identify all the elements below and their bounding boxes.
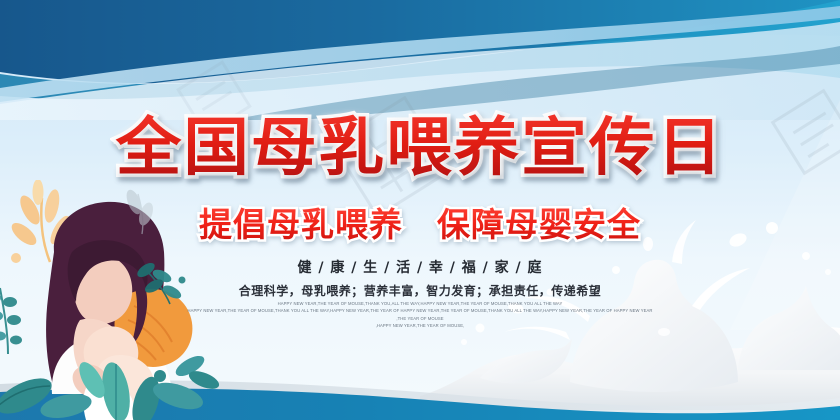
leaf-foreground-group <box>0 352 221 420</box>
mother-hand <box>73 365 108 398</box>
poster-motto: 合理科学，母乳喂养；营养丰富，智力发育；承担责任，传递希望 <box>0 282 840 299</box>
english-filler-line-1: HAPPY NEW YEAR,THE YEAR OF MOUSE,THANK Y… <box>170 300 670 307</box>
mother-hair-side <box>130 266 147 348</box>
bottom-wave-decoration <box>0 340 840 420</box>
top-wave-svg <box>0 0 840 120</box>
dress-fold <box>83 380 134 420</box>
top-wave-decoration <box>0 0 840 120</box>
mother-dress <box>52 333 172 394</box>
baby-head <box>84 326 139 380</box>
english-filler-block: HAPPY NEW YEAR,THE YEAR OF MOUSE,THANK Y… <box>170 300 670 330</box>
bottom-wave-svg <box>0 340 840 420</box>
poster-title: 全国母乳喂养宣传日 <box>0 112 840 184</box>
poster-subtitle: 提倡母乳喂养 保障母婴安全 <box>0 204 840 246</box>
baby-body <box>96 355 155 407</box>
english-filler-line-4: ,HAPPY NEW YEAR,THE YEAR OF MOUSE, <box>170 322 670 329</box>
english-filler-line-2: HAPPY NEW YEAR,THE YEAR OF MOUSE,THANK Y… <box>170 307 670 314</box>
english-filler-line-3: ,THE YEAR OF MOUSE <box>170 315 670 322</box>
mother-arm <box>74 319 130 385</box>
poster-slash-slogan: 健 / 康 / 生 / 活 / 幸 / 福 / 家 / 庭 <box>0 257 840 277</box>
poster-canvas: 全国母乳喂养宣传日 全国母乳喂养宣传日 提倡母乳喂养 保障母婴安全 提倡母乳喂养… <box>0 0 840 420</box>
